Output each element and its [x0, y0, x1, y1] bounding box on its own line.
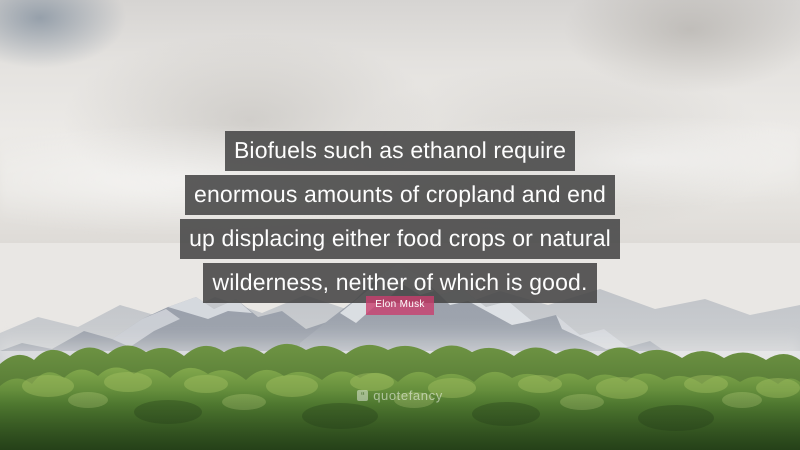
quote-line-2: enormous amounts of cropland and end	[185, 175, 615, 215]
author-name-badge: Elon Musk	[366, 296, 433, 315]
author-attribution: Elon Musk	[0, 296, 800, 315]
quote-line-1: Biofuels such as ethanol require	[225, 131, 575, 171]
quote-poster: Biofuels such as ethanol require enormou…	[0, 0, 800, 450]
quote-text: Biofuels such as ethanol require enormou…	[0, 131, 800, 303]
forest-canopy	[0, 320, 800, 450]
quote-line-3: up displacing either food crops or natur…	[180, 219, 620, 259]
